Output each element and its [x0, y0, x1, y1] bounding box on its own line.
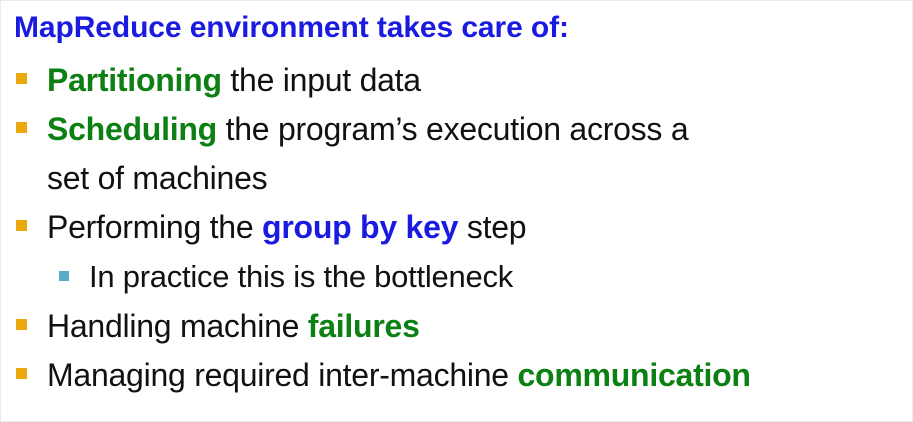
bullet-tail: step: [458, 209, 526, 245]
bullet-lead: Performing the: [47, 209, 262, 245]
bullet-text: Partitioning the input data: [47, 56, 910, 105]
keyword-partitioning: Partitioning: [47, 62, 222, 98]
bullet-item-partitioning: Partitioning the input data: [1, 56, 913, 105]
bullet-text: Managing required inter-machine communic…: [47, 351, 910, 400]
keyword-failures: failures: [308, 308, 420, 344]
bullet-lead: Handling machine: [47, 308, 308, 344]
bullet-tail: the program’s execution across a: [217, 111, 688, 147]
bullet-tail: the input data: [222, 62, 421, 98]
bullet-text: Handling machine failures: [47, 302, 910, 351]
bullet-item-failures: Handling machine failures: [1, 302, 913, 351]
keyword-scheduling: Scheduling: [47, 111, 217, 147]
bullet-text: Performing the group by key step: [47, 203, 910, 252]
square-sub-bullet-icon: [59, 271, 69, 281]
square-bullet-icon: [16, 319, 27, 330]
bullet-item-communication: Managing required inter-machine communic…: [1, 351, 913, 400]
sub-bullet-text: In practice this is the bottleneck: [89, 252, 910, 302]
sub-bullet-item-bottleneck: In practice this is the bottleneck: [1, 252, 913, 302]
square-bullet-icon: [16, 73, 27, 84]
bullet-wrap-line: set of machines: [47, 154, 910, 203]
bullet-text: Scheduling the program’s execution acros…: [47, 105, 910, 154]
square-bullet-icon: [16, 220, 27, 231]
bullet-item-scheduling: Scheduling the program’s execution acros…: [1, 105, 913, 203]
keyword-group-by-key: group by key: [262, 209, 458, 245]
bullet-lead: Managing required inter-machine: [47, 357, 517, 393]
slide-title: MapReduce environment takes care of:: [14, 9, 569, 47]
bullet-list: Partitioning the input data Scheduling t…: [1, 56, 913, 400]
bullet-item-group-by-key: Performing the group by key step: [1, 203, 913, 252]
keyword-communication: communication: [517, 357, 750, 393]
square-bullet-icon: [16, 122, 27, 133]
slide-canvas: MapReduce environment takes care of: Par…: [0, 0, 913, 422]
square-bullet-icon: [16, 368, 27, 379]
